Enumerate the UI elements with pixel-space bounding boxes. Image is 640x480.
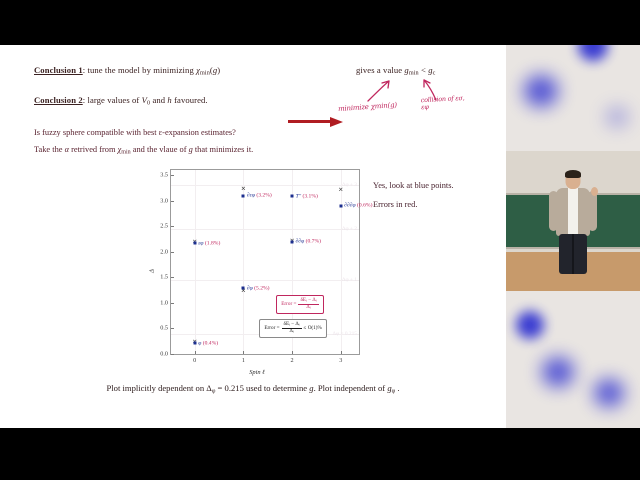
error-formula-suffix: ≤ O(1)% <box>304 326 322 331</box>
y-tick-label-2.0: 2.0 <box>160 248 168 255</box>
data-point-label: ∂∂φ (0.7%) <box>296 239 321 245</box>
data-point-label: T'' (3.1%) <box>296 193 318 199</box>
gridline-y-2 <box>171 229 359 230</box>
speaker-figure <box>550 171 596 291</box>
speaker-hair <box>565 170 581 178</box>
red-arrow-icon <box>288 117 344 126</box>
data-point-cross: ✕ <box>338 188 343 193</box>
cross-marker-icon: ✕ <box>338 188 343 193</box>
data-point-t-prime: T'' (3.1%) <box>291 195 294 198</box>
error-percent: (0.7%) <box>306 239 321 245</box>
data-point-cross: ✕ <box>241 188 246 193</box>
error-percent: (1.8%) <box>205 240 220 246</box>
data-point-eps-phi: εφ (1.8%) <box>193 242 196 245</box>
y-tick-mark-2.5 <box>171 226 174 227</box>
blue-blob-icon <box>606 107 628 127</box>
conclusion-2-line: Conclusion 2: large values of V0 and h f… <box>34 95 208 106</box>
data-point-label: ∂∂∂φ (0.6%) <box>344 203 372 209</box>
gridline-x-0 <box>195 170 196 354</box>
data-point-phi: φ (0.4%) <box>193 342 196 345</box>
slide-caption: Plot implicitly dependent on Δφ = 0.215 … <box>107 383 400 393</box>
handwritten-note-left: minimize χmin(g) <box>338 101 397 113</box>
presentation-slide: Conclusion 1: tune the model by minimizi… <box>0 45 506 428</box>
ghost-label-3: Δφ = 0.215 <box>333 331 357 337</box>
data-point-dd-phi: ∂∂φ (0.7%) <box>291 240 294 243</box>
content-band: Conclusion 1: tune the model by minimizi… <box>0 45 640 428</box>
square-marker-icon <box>291 240 294 243</box>
error-formula-box-black: Error = δEᵢ − ∆ᵢ Δᵢ ≤ O(1)% <box>259 319 326 338</box>
blue-blob-icon <box>516 311 544 339</box>
handwritten-arrow-left-icon <box>366 77 396 103</box>
question-line-1: Is fuzzy sphere compatible with best ε-e… <box>34 128 236 137</box>
arrow-head <box>330 117 343 127</box>
y-tick-label-2.5: 2.5 <box>160 223 168 230</box>
error-percent: (5.2%) <box>254 285 269 291</box>
conclusion-2-lead: Conclusion 2 <box>34 95 83 105</box>
blue-blob-icon <box>594 379 624 407</box>
error-formula-prefix: Error = <box>264 326 279 331</box>
blue-blob-icon <box>524 75 558 107</box>
handwritten-note-right: collision of εσ, εφ <box>421 95 468 112</box>
square-marker-icon <box>193 342 196 345</box>
y-tick-label-1.0: 1.0 <box>160 299 168 306</box>
gridline-y-1 <box>171 280 359 281</box>
error-formula-box-red: Error = δEᵢ − Δᵢ Δᵢ <box>276 295 323 314</box>
slide-caption-wrap: Plot implicitly dependent on Δφ = 0.215 … <box>0 378 506 396</box>
note-line-2: Errors in red. <box>373 200 417 209</box>
square-marker-icon <box>242 287 245 290</box>
data-point-label: φ (0.4%) <box>198 340 218 346</box>
error-percent: (0.4%) <box>203 340 218 346</box>
y-tick-label-0.0: 0.0 <box>160 351 168 358</box>
video-panel-column <box>506 45 640 428</box>
x-tick-label-3: 3 <box>339 357 342 364</box>
data-point-ddd-phi: ∂∂∂φ (0.6%) <box>339 204 342 207</box>
result-text: gives a value gmin < gc <box>356 65 435 76</box>
error-formula-fraction: δEᵢ − ∆ᵢ Δᵢ <box>282 322 302 335</box>
conclusion-1-line: Conclusion 1: tune the model by minimizi… <box>34 65 220 76</box>
x-tick-mark-2 <box>292 351 293 354</box>
y-tick-label-3.0: 3.0 <box>160 197 168 204</box>
ghost-label-0: Δφ + 3 <box>342 182 357 188</box>
x-tick-label-1: 1 <box>242 357 245 364</box>
speaker-shirt <box>568 188 578 238</box>
data-point-label: εφ (1.8%) <box>198 240 220 246</box>
conclusion-1-lead: Conclusion 1 <box>34 65 83 75</box>
y-tick-mark-1.0 <box>171 303 174 304</box>
y-tick-label-1.5: 1.5 <box>160 274 168 281</box>
y-tick-mark-0.5 <box>171 328 174 329</box>
data-point-d-eps-phi: ∂εφ (3.2%) <box>242 194 245 197</box>
y-tick-mark-2.0 <box>171 252 174 253</box>
fraction-denominator: Δᵢ <box>304 305 312 311</box>
y-tick-label-3.5: 3.5 <box>160 172 168 179</box>
video-panel-blurred-bottom[interactable] <box>506 291 640 428</box>
conclusion-2-text: : large values of V0 and h favoured. <box>83 95 208 105</box>
error-percent: (3.1%) <box>302 193 317 199</box>
delta-vs-spin-scatter-plot: Δ Spin ℓ 0.0 <box>148 165 366 377</box>
video-panel-speaker[interactable] <box>506 151 640 291</box>
gridline-x-1 <box>243 170 244 354</box>
y-axis-label: Δ <box>148 269 155 273</box>
question-line-2: Take the α retrived from χmin and the vl… <box>34 145 253 155</box>
square-marker-icon <box>339 204 342 207</box>
gridline-x-3 <box>341 170 342 354</box>
y-tick-mark-3.5 <box>171 175 174 176</box>
arrow-shaft <box>288 120 332 123</box>
gridline-y-3 <box>171 185 359 186</box>
ghost-label-1: Δφ + 2 <box>342 226 357 232</box>
note-line-1: Yes, look at blue points. <box>373 181 454 190</box>
ghost-label-2: Δφ + 1 <box>342 277 357 283</box>
square-marker-icon <box>193 242 196 245</box>
y-tick-mark-3.0 <box>171 201 174 202</box>
x-tick-mark-1 <box>243 351 244 354</box>
error-percent: (3.2%) <box>256 193 271 199</box>
blue-blob-icon <box>542 357 574 387</box>
plot-frame: 0.0 0.5 1.0 1.5 <box>170 169 360 355</box>
data-point-label: ∂φ (5.2%) <box>247 285 270 291</box>
x-axis-label: Spin ℓ <box>249 369 265 376</box>
x-tick-label-2: 2 <box>291 357 294 364</box>
video-call-stage: Conclusion 1: tune the model by minimizi… <box>0 0 640 480</box>
y-tick-mark-1.5 <box>171 277 174 278</box>
y-tick-mark-0.0 <box>171 354 174 355</box>
data-point-label: ∂εφ (3.2%) <box>247 193 272 199</box>
square-marker-icon <box>242 194 245 197</box>
error-formula-prefix: Error = <box>281 302 296 307</box>
x-tick-mark-3 <box>341 351 342 354</box>
speaker-hand <box>591 187 598 196</box>
cross-marker-icon: ✕ <box>241 188 246 193</box>
fraction-denominator: Δᵢ <box>287 329 295 335</box>
error-formula-fraction: δEᵢ − Δᵢ Δᵢ <box>298 298 318 311</box>
data-point-d-phi: ∂φ (5.2%) <box>242 287 245 290</box>
y-tick-label-0.5: 0.5 <box>160 325 168 332</box>
square-marker-icon <box>291 195 294 198</box>
x-tick-label-0: 0 <box>193 357 196 364</box>
video-panel-blurred-top[interactable] <box>506 45 640 151</box>
speaker-arm-left <box>549 191 558 231</box>
speaker-arm-right <box>588 191 597 231</box>
x-tick-mark-0 <box>195 351 196 354</box>
conclusion-1-text: : tune the model by minimizing χmin(g) <box>83 65 221 75</box>
speaker-leg-split <box>572 234 574 274</box>
error-percent: (0.6%) <box>357 203 372 209</box>
